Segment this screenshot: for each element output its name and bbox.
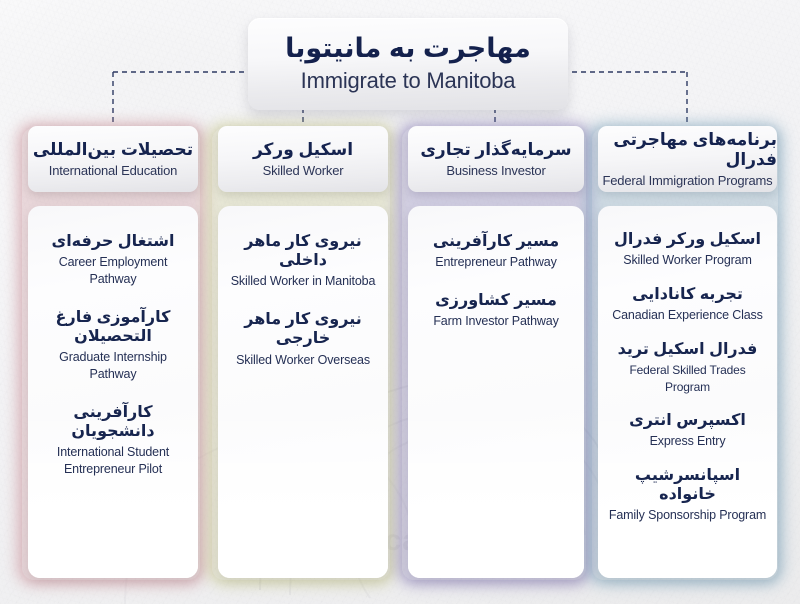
list-item[interactable]: نیروی کار ماهر داخلی Skilled Worker in M… [228,232,378,290]
list-item[interactable]: مسیر کشاورزی Farm Investor Pathway [418,291,574,330]
list-item[interactable]: کارآموزی فارغ التحصیلان Graduate Interns… [38,308,188,383]
list-item[interactable]: کارآفرینی دانشجویان International Studen… [38,403,188,478]
item-fa: اسکیل ورکر فدرال [608,230,767,249]
item-en-line: Express Entry [608,433,767,450]
item-en-line: Skilled Worker Program [608,252,767,269]
item-en: International Student Entrepreneur Pilot [38,444,188,478]
list-item[interactable]: نیروی کار ماهر خارجی Skilled Worker Over… [228,310,378,368]
header-fa-skilled-worker: اسکیل ورکر [253,140,353,160]
item-en-line: Entrepreneur Pathway [418,254,574,271]
item-en-line: International Student [38,444,188,461]
infographic-canvas: Parsicanada مهاجرت به مانیتوبا Immigrate… [0,0,800,604]
page-title-card: مهاجرت به مانیتوبا Immigrate to Manitoba [248,18,568,110]
list-item[interactable]: اسپانسرشیپ خانواده Family Sponsorship Pr… [608,466,767,524]
panel-skilled-worker: نیروی کار ماهر داخلی Skilled Worker in M… [218,206,388,578]
item-en: Express Entry [608,433,767,450]
list-item[interactable]: فدرال اسکیل ترید Federal Skilled Trades … [608,340,767,395]
item-fa: مسیر کارآفرینی [418,232,574,251]
item-en: Career Employment Pathway [38,254,188,288]
item-fa: فدرال اسکیل ترید [608,340,767,359]
header-box-federal-programs[interactable]: برنامه‌های مهاجرتی فدرال Federal Immigra… [598,126,777,192]
header-en-business-investor: Business Investor [446,163,545,178]
header-fa-federal-programs: برنامه‌های مهاجرتی فدرال [598,130,777,169]
page-title-fa: مهاجرت به مانیتوبا [285,34,531,64]
panel-business-investor: مسیر کارآفرینی Entrepreneur Pathway مسیر… [408,206,584,578]
item-fa: مسیر کشاورزی [418,291,574,310]
header-fa-business-investor: سرمایه‌گذار تجاری [420,140,571,160]
item-en-line: Farm Investor Pathway [418,313,574,330]
header-en-federal-programs: Federal Immigration Programs [603,173,773,188]
item-fa: کارآموزی فارغ التحصیلان [38,308,188,346]
item-en: Skilled Worker Overseas [228,352,378,369]
list-item[interactable]: اکسپرس انتری Express Entry [608,411,767,450]
panel-international-education: اشتغال حرفه‌ای Career Employment Pathway… [28,206,198,578]
list-item[interactable]: تجربه کانادایی Canadian Experience Class [608,285,767,324]
item-en: Family Sponsorship Program [608,507,767,524]
item-en-line: Family Sponsorship Program [608,507,767,524]
item-fa: اشتغال حرفه‌ای [38,232,188,251]
item-en-line: Skilled Worker in Manitoba [228,273,378,290]
item-fa: اکسپرس انتری [608,411,767,430]
header-box-business-investor[interactable]: سرمایه‌گذار تجاری Business Investor [408,126,584,192]
item-fa: کارآفرینی دانشجویان [38,403,188,441]
header-box-international-education[interactable]: تحصیلات بین‌المللی International Educati… [28,126,198,192]
header-en-international-education: International Education [49,163,177,178]
item-en: Farm Investor Pathway [418,313,574,330]
item-en-line: Canadian Experience Class [608,307,767,324]
item-en-line: Federal Skilled Trades Program [608,362,767,394]
item-en: Federal Skilled Trades Program [608,362,767,394]
item-en-line: Entrepreneur Pilot [38,461,188,478]
panel-federal-programs: اسکیل ورکر فدرال Skilled Worker Program … [598,206,777,578]
item-en: Entrepreneur Pathway [418,254,574,271]
list-item[interactable]: اسکیل ورکر فدرال Skilled Worker Program [608,230,767,269]
item-en: Graduate Internship Pathway [38,349,188,383]
item-en-line: Skilled Worker Overseas [228,352,378,369]
header-en-skilled-worker: Skilled Worker [263,163,344,178]
item-en: Skilled Worker Program [608,252,767,269]
item-fa: اسپانسرشیپ خانواده [608,466,767,504]
item-en-line: Graduate Internship Pathway [38,349,188,383]
list-item[interactable]: اشتغال حرفه‌ای Career Employment Pathway [38,232,188,288]
item-fa: نیروی کار ماهر داخلی [228,232,378,270]
page-title-en: Immigrate to Manitoba [301,68,516,94]
item-en: Skilled Worker in Manitoba [228,273,378,290]
list-item[interactable]: مسیر کارآفرینی Entrepreneur Pathway [418,232,574,271]
item-en-line: Career Employment Pathway [38,254,188,288]
header-box-skilled-worker[interactable]: اسکیل ورکر Skilled Worker [218,126,388,192]
item-fa: تجربه کانادایی [608,285,767,304]
item-en: Canadian Experience Class [608,307,767,324]
header-fa-international-education: تحصیلات بین‌المللی [33,140,193,160]
item-fa: نیروی کار ماهر خارجی [228,310,378,348]
